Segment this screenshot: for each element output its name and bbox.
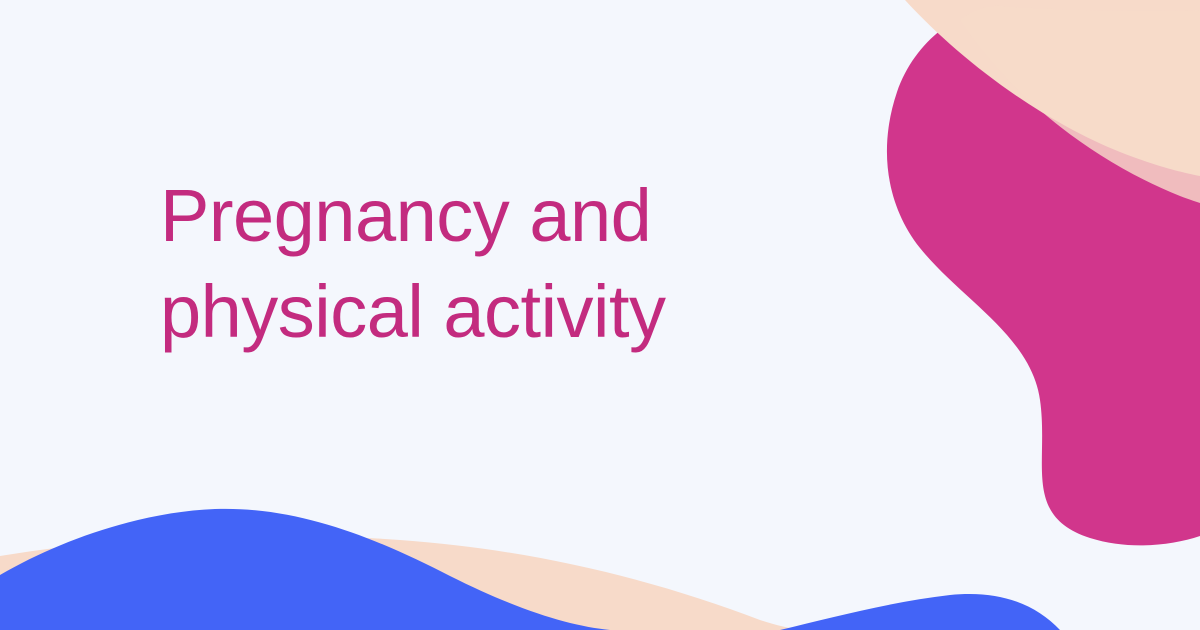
page-title-line-2: physical activity [160, 264, 780, 360]
page-title: Pregnancy and physical activity [160, 168, 780, 360]
social-share-card: Pregnancy and physical activity [0, 0, 1200, 630]
page-title-line-1: Pregnancy and [160, 168, 780, 264]
